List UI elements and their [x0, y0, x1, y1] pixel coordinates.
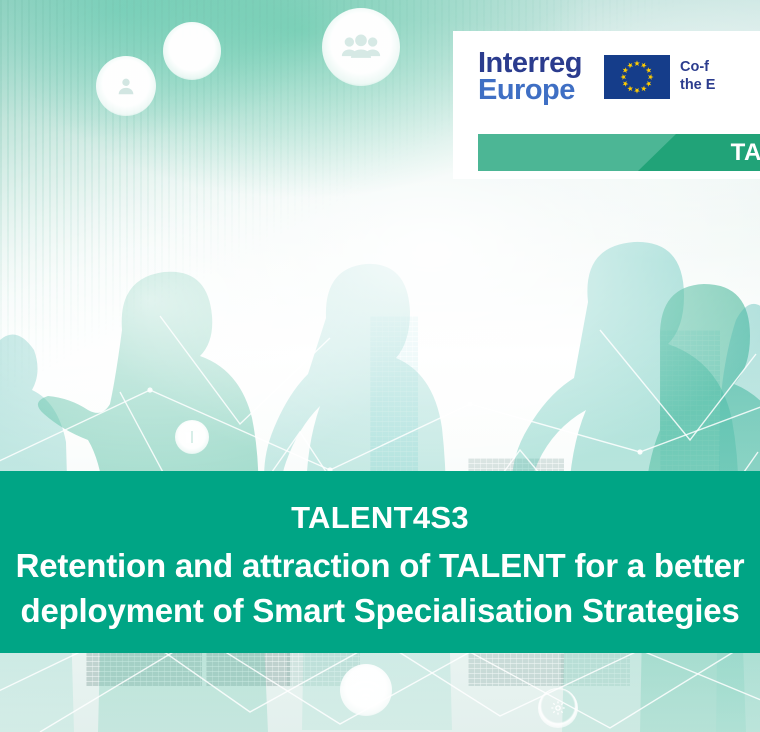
project-subtitle-line2: deployment of Smart Specialisation Strat… — [20, 592, 739, 630]
project-title: TALENT4S3 — [291, 500, 469, 536]
banner-image: Interreg Europe — [0, 0, 760, 732]
logo-row: Interreg Europe — [478, 50, 715, 103]
interreg-wordmark-line1: Interreg — [478, 50, 582, 77]
interreg-logo-card: Interreg Europe — [453, 31, 760, 179]
eu-cofunded-text: Co-f the E — [680, 59, 715, 94]
interreg-europe-logo: Interreg Europe — [478, 50, 582, 103]
project-name-banner: TAL — [478, 134, 760, 171]
project-subtitle-line1: Retention and attraction of TALENT for a… — [16, 547, 745, 585]
title-band: TALENT4S3 Retention and attraction of TA… — [0, 471, 760, 653]
eu-cofunded-line1: Co-f — [680, 59, 715, 77]
interreg-wordmark-line2: Europe — [478, 77, 582, 104]
european-union-flag-icon — [604, 55, 670, 99]
banner-project-text: TAL — [731, 134, 760, 171]
eu-cofunded-logo: Co-f the E — [604, 55, 715, 99]
eu-cofunded-line2: the E — [680, 77, 715, 95]
